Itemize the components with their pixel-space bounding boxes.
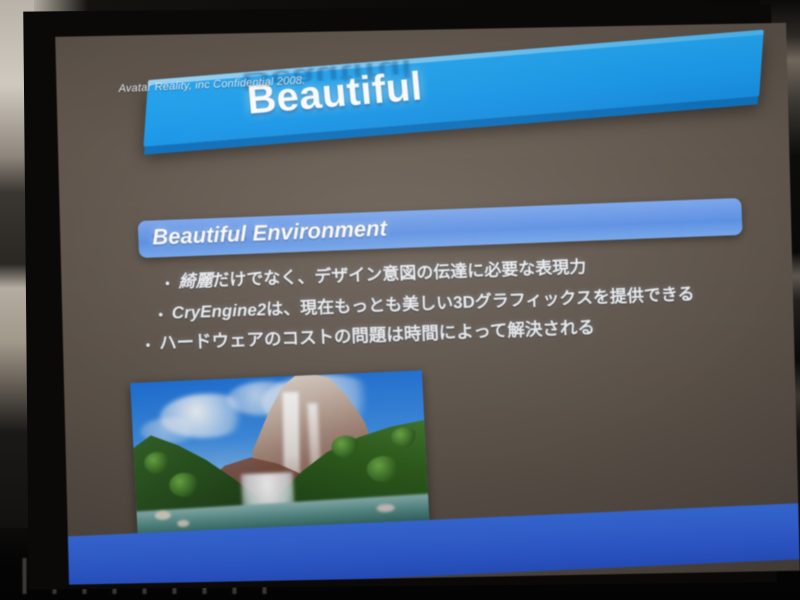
bullet-rest: ハードウェアのコストの問題は時間によって解決される	[159, 317, 596, 353]
photo-of-projected-slide: Beautiful Beautiful Beautiful Environmen…	[0, 0, 800, 600]
projection-screen-frame: Beautiful Beautiful Beautiful Environmen…	[23, 4, 777, 589]
game-environment-screenshot	[130, 370, 429, 535]
presentation-slide: Beautiful Beautiful Beautiful Environmen…	[55, 23, 800, 585]
bullet-marker: •	[145, 337, 150, 352]
bullet-marker: •	[165, 276, 170, 291]
bullet-list: • 綺麗だけでなく、デザイン意図の伝達に必要な表現力 • CryEngine2は…	[132, 246, 775, 362]
bullet-emphasis: 綺麗	[178, 271, 213, 291]
bullet-emphasis: CryEngine2	[171, 300, 266, 322]
section-heading-label: Beautiful Environment	[152, 216, 388, 251]
bullet-marker: •	[158, 307, 163, 322]
